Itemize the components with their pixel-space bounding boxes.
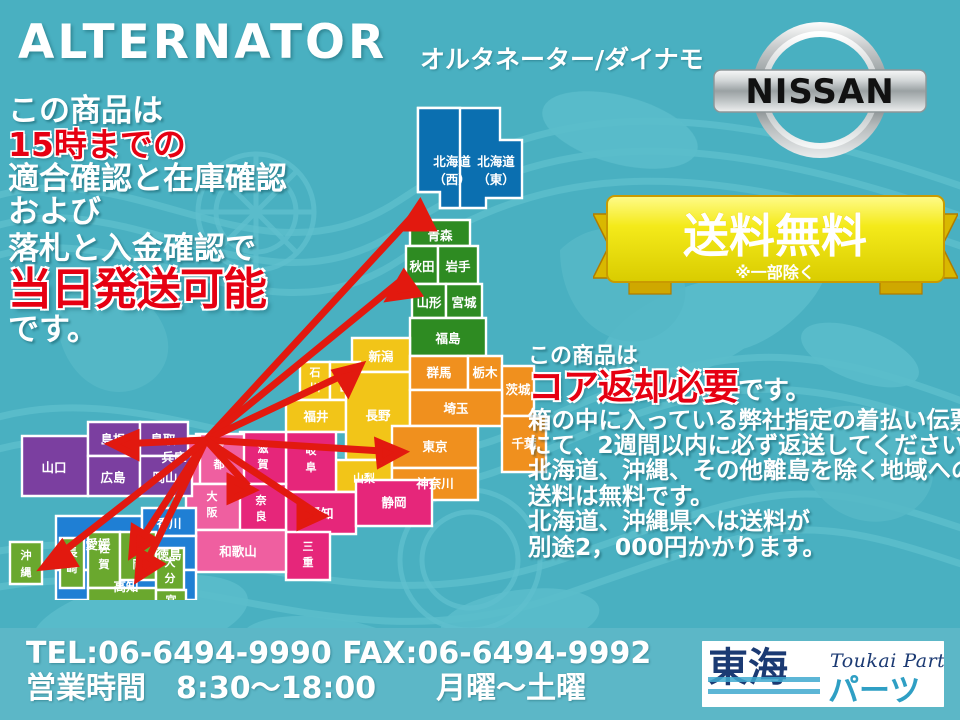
ribbon-main-text: 送料無料 [683,209,867,263]
label-wakayama: 和歌山 [218,544,257,559]
label-gunma: 群馬 [425,365,451,380]
label-tokyo: 東京 [422,439,448,454]
label-gifu-2: 阜 [306,460,317,474]
toukai-parts-logo: 東海 Toukai Parts パーツ [702,641,944,707]
nissan-wordmark: NISSAN [745,72,894,112]
page-subtitle: オルタネーター/ダイナモ [420,47,704,72]
right-copy-body-5: 北海道、沖縄県へは送料が [528,509,960,534]
label-saga-1: 佐 [98,541,110,555]
label-oita-2: 分 [165,571,176,585]
label-iwate: 岩手 [444,259,471,274]
nissan-logo: NISSAN [700,16,940,164]
ribbon-note-text: ※一部除く [735,263,815,282]
label-kanagawa: 神奈川 [416,476,454,491]
core-return-highlight: コア返却必要 [528,367,738,408]
logo-romaji: Toukai Parts [830,650,944,672]
label-saga-2: 賀 [98,557,110,571]
label-yamagata: 山形 [416,295,442,310]
right-copy-body-1: 箱の中に入っている弊社指定の着払い伝票 [528,408,960,433]
label-miyazaki-1: 宮 [166,593,177,600]
label-tochigi: 栃木 [472,365,498,380]
right-copy-body-3: 北海道、沖縄、その他離島を除く地域への [528,458,960,483]
label-ishikawa-1: 石 [309,366,321,379]
contact-block: TEL:06-6494-9990 FAX:06-6494-9992 営業時間 8… [26,636,651,707]
right-copy-line-1: この商品は [528,345,960,369]
region-kanto [392,356,546,500]
label-hiroshima: 広島 [100,470,126,485]
right-copy-body-4: 送料は無料です。 [528,484,960,509]
right-copy-block: この商品は コア返却必要です。 箱の中に入っている弊社指定の着払い伝票 にて、2… [528,345,960,560]
label-hokkaido-west-2: （西） [433,172,471,187]
label-mie-2: 重 [303,555,314,569]
contact-hours: 営業時間 8:30〜18:00 月曜〜土曜 [26,671,651,706]
right-copy-highlight-row: コア返却必要です。 [528,369,960,408]
label-niigata: 新潟 [368,349,394,364]
label-okinawa-1: 沖 [21,548,32,562]
label-saitama: 埼玉 [443,401,469,416]
logo-katakana: パーツ [828,673,920,707]
label-mie-1: 三 [303,540,314,553]
label-hokkaido-west-1: 北海道 [433,154,471,169]
label-nagano: 長野 [365,408,391,423]
label-shiga-2: 賀 [257,457,269,471]
label-osaka-1: 大 [207,489,218,503]
free-shipping-ribbon: 送料無料 ※一部除く [593,190,958,298]
label-yamaguchi: 山口 [41,460,66,475]
label-hokkaido-east-2: （東） [477,172,515,187]
label-fukui: 福井 [302,409,329,424]
right-copy-body-2: にて、2週間以内に必ず返送してください。 [528,433,960,458]
right-copy-body-6: 別途2，000円かかります。 [528,535,960,560]
japan-shipping-map: 北海道 （西） 北海道 （東） 青森 秋田 岩手 山形 宮城 福島 新潟 石 川… [0,80,560,600]
label-shizuoka: 静岡 [381,495,406,510]
label-oita-1: 大 [165,555,176,569]
page-title: ALTERNATOR [18,19,387,66]
label-okinawa-2: 縄 [21,565,32,579]
label-nara-2: 良 [256,509,267,523]
core-return-tail: です。 [738,376,810,406]
label-nara-1: 奈 [255,493,268,507]
logo-kanji: 東海 [708,644,788,691]
label-fukushima: 福島 [434,331,461,346]
label-hokkaido-east-1: 北海道 [477,154,515,169]
label-osaka-2: 阪 [207,505,219,519]
contact-phone-fax: TEL:06-6494-9990 FAX:06-6494-9992 [26,636,651,671]
label-miyagi: 宮城 [451,295,477,310]
flyer-canvas: ALTERNATOR オルタネーター/ダイナモ [0,0,960,720]
label-akita: 秋田 [409,259,434,274]
label-yamanashi: 山梨 [353,471,376,485]
